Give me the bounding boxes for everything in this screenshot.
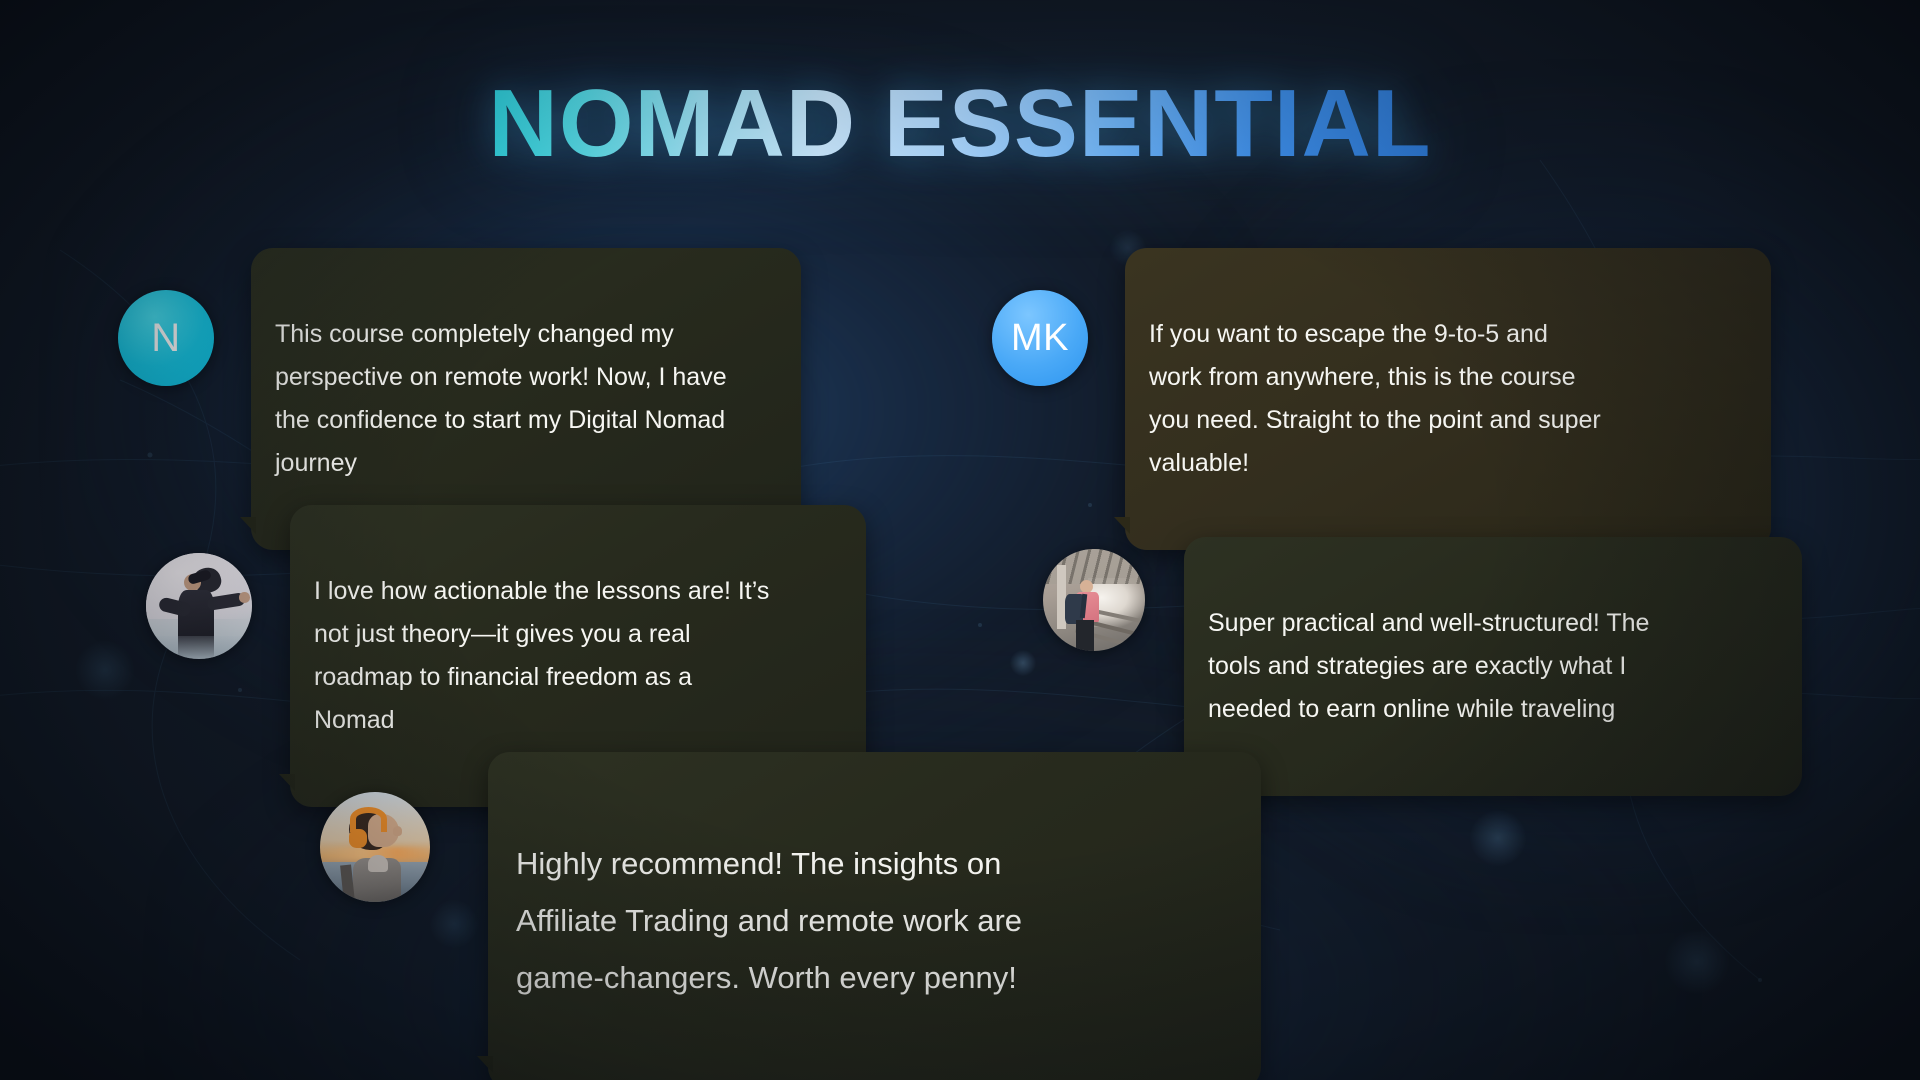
slide-canvas: NOMAD ESSENTIAL N This course completely… [0, 0, 1920, 1080]
vignette-overlay [0, 0, 1920, 1080]
